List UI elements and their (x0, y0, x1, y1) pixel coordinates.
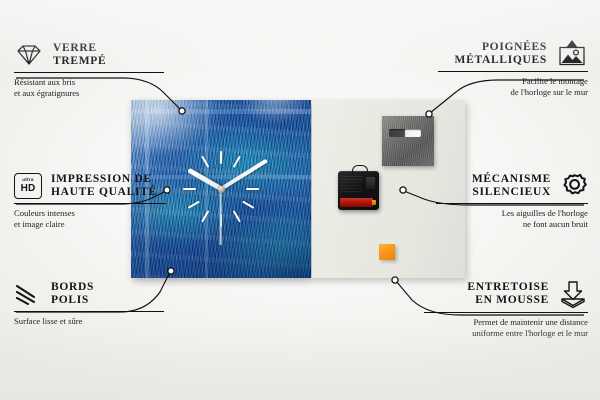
connector-dot-mecanisme (400, 187, 406, 193)
ultra-hd-icon: ultra HD (14, 173, 42, 199)
callout-rule (14, 311, 164, 312)
callout-title: POIGNÉES MÉTALLIQUES (455, 41, 547, 67)
callout-subtitle: Couleurs intenses et image claire (14, 208, 166, 229)
callout-rule (14, 72, 164, 73)
foam-spacer-arrow-icon (558, 280, 588, 308)
connector-dot-verre-trempe (179, 108, 185, 114)
callout-rule (424, 312, 588, 313)
callout-rule (436, 203, 588, 204)
polished-edges-icon (14, 283, 42, 305)
callout-entretoise-en-mousse: ENTRETOISE EN MOUSSE Permet de maintenir… (424, 280, 588, 339)
infographic-canvas: VERRE TREMPÉ Résistant aux bris et aux é… (0, 0, 600, 400)
callout-title: VERRE TREMPÉ (53, 42, 106, 68)
connector-dot-poignees (426, 111, 432, 117)
callout-bords-polis: BORDS POLIS Surface lisse et sûre (14, 281, 164, 327)
callout-rule (438, 71, 588, 72)
callout-subtitle: Résistant aux bris et aux égratignures (14, 77, 164, 98)
callout-verre-trempe: VERRE TREMPÉ Résistant aux bris et aux é… (14, 42, 164, 99)
callout-rule (14, 203, 166, 204)
diamond-icon (14, 44, 44, 66)
connector-dot-bords-polis (168, 268, 174, 274)
callout-subtitle: Permet de maintenir une distance uniform… (424, 317, 588, 338)
callout-mecanisme-silencieux: MÉCANISME SILENCIEUX Les aiguilles de l'… (436, 172, 588, 230)
callout-title: MÉCANISME SILENCIEUX (472, 173, 551, 199)
callout-impression-haute-qualite: ultra HD IMPRESSION DE HAUTE QUALITÉ Cou… (14, 173, 166, 230)
callout-subtitle: Surface lisse et sûre (14, 316, 164, 327)
callout-subtitle: Facilite le montage de l'horloge sur le … (438, 76, 588, 97)
callout-title: ENTRETOISE EN MOUSSE (467, 281, 549, 307)
gear-icon (560, 172, 588, 199)
callout-subtitle: Les aiguilles de l'horloge ne font aucun… (436, 208, 588, 229)
callout-title: BORDS POLIS (51, 281, 94, 307)
ultra-hd-icon-large-text: HD (21, 184, 36, 194)
connector-dot-entretoise (392, 277, 398, 283)
hanging-frame-icon (556, 40, 588, 67)
callout-title: IMPRESSION DE HAUTE QUALITÉ (51, 173, 157, 199)
callout-poignees-metalliques: POIGNÉES MÉTALLIQUES Facilite le montage… (438, 40, 588, 98)
